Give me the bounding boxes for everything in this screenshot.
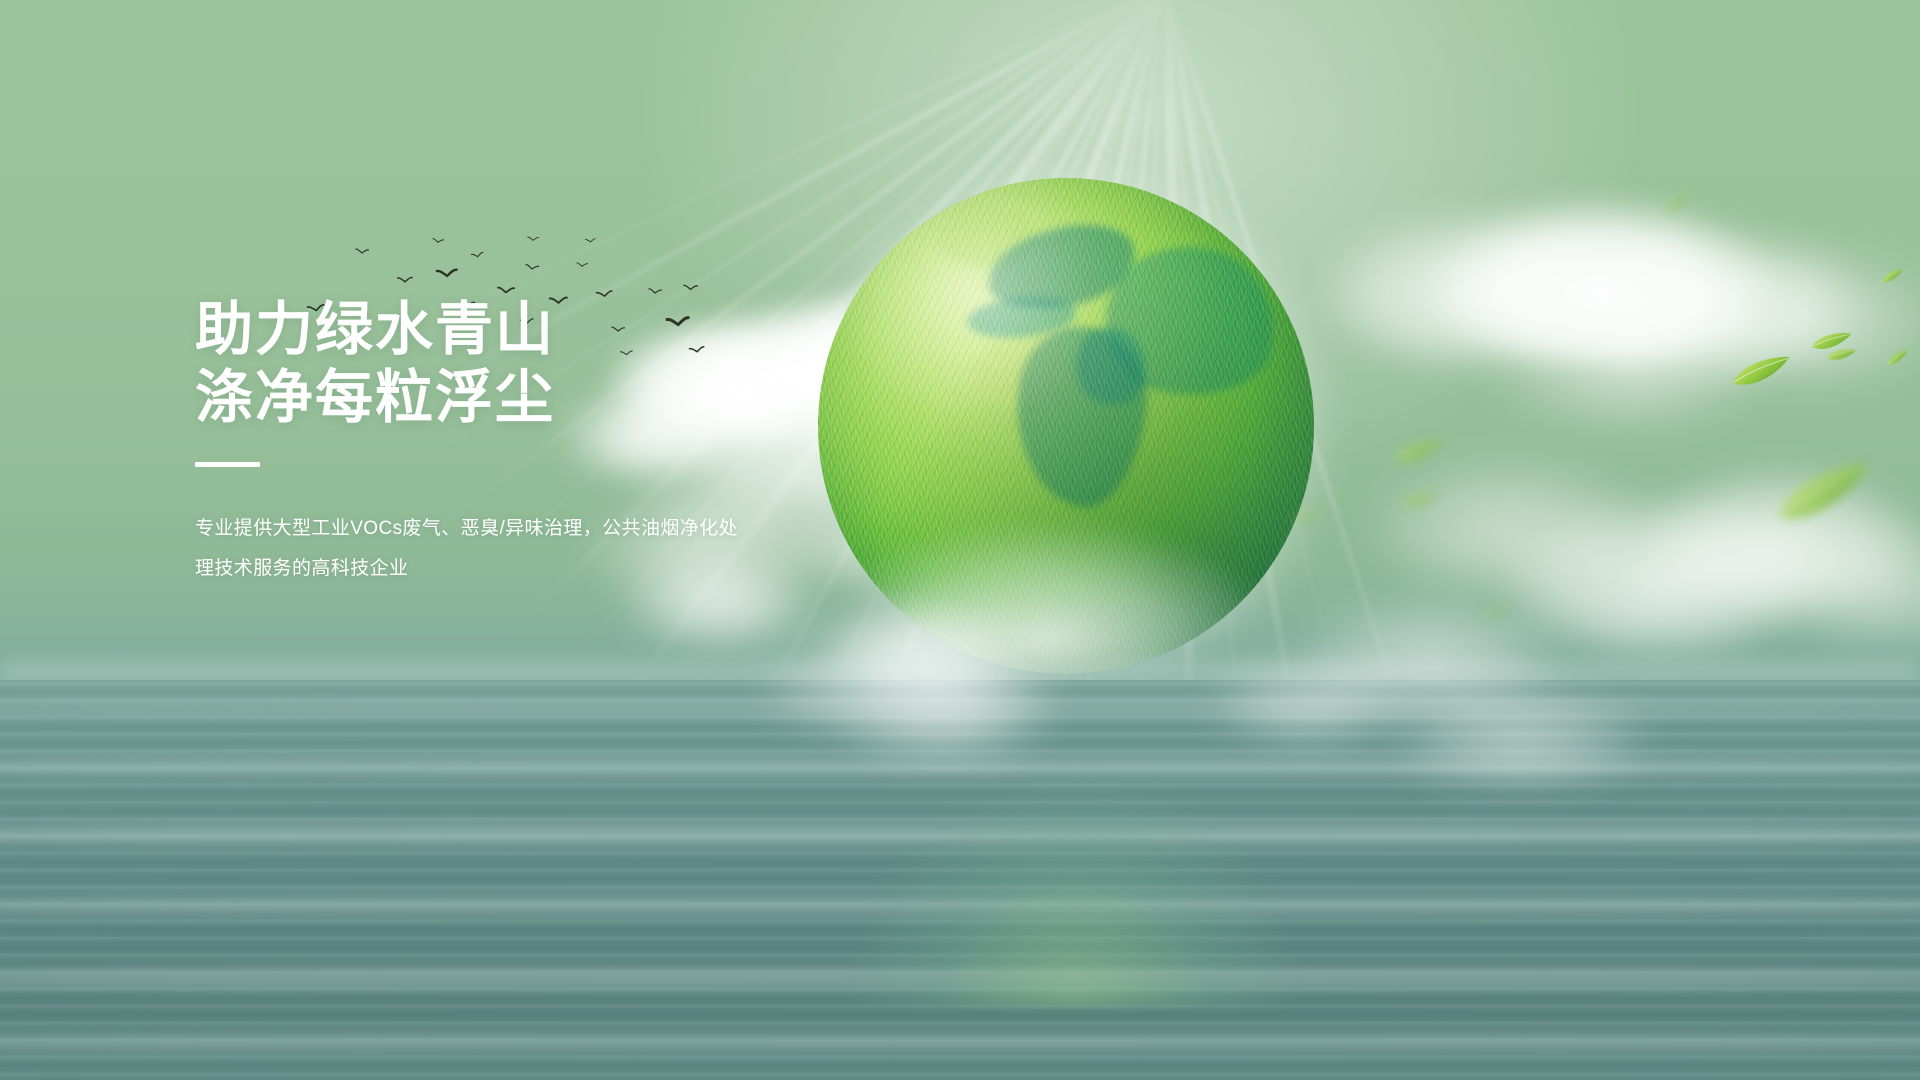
bird-icon [497,286,515,297]
bird-icon [355,248,370,257]
cloud-icon [1390,690,1650,780]
page-title-line-1: 助力绿水青山 [195,296,955,364]
hero-description: 专业提供大型工业VOCs废气、恶臭/异味治理，公共油烟净化处理技术服务的高科技企… [195,509,740,589]
bird-icon [525,263,540,273]
cloud-icon [1490,300,1770,420]
cloud-icon [840,686,1050,756]
bird-icon [527,236,539,243]
water-wave [0,1064,1920,1078]
bird-icon [432,237,445,245]
cloud-icon [1210,660,1410,740]
bird-icon [436,267,459,281]
water-wave [0,1032,1920,1054]
bird-icon [585,238,596,245]
divider-rule [195,462,260,467]
bird-icon [683,284,698,293]
hero-banner: 助力绿水青山 涤净每粒浮尘 专业提供大型工业VOCs废气、恶臭/异味治理，公共油… [0,0,1920,1080]
page-title-line-2: 涤净每粒浮尘 [195,364,955,432]
bird-icon [470,251,484,260]
leaf-icon [1388,431,1450,472]
bird-icon [576,261,589,269]
bird-icon [397,276,413,285]
hero-copy: 助力绿水青山 涤净每粒浮尘 专业提供大型工业VOCs废气、恶臭/异味治理，公共油… [195,296,955,589]
